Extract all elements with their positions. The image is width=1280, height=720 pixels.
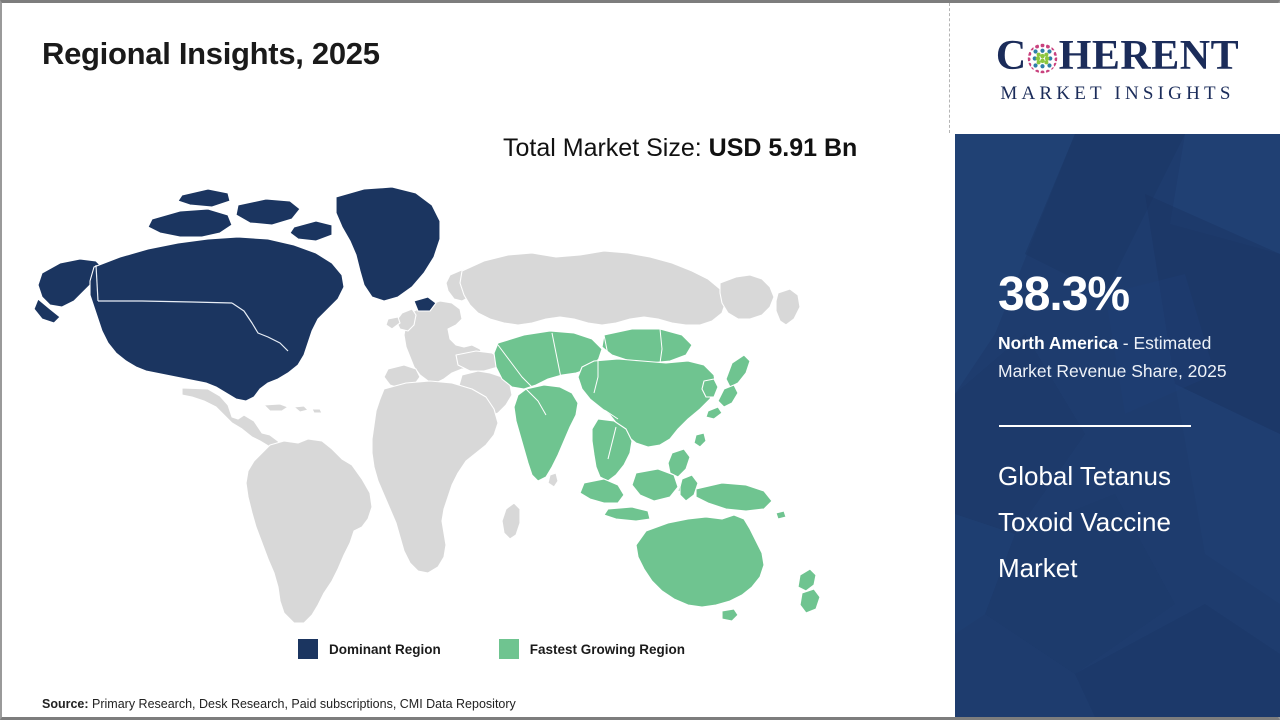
stat-panel: 38.3% North America - Estimated Market R… [955,134,1280,717]
source-note: Source: Primary Research, Desk Research,… [42,697,516,711]
world-map-svg [32,183,842,623]
market-title: Global Tetanus Toxoid Vaccine Market [998,454,1248,591]
logo-wordmark: C [996,33,1239,79]
legend-item-dominant: Dominant Region [298,639,441,659]
stat-description: North America - Estimated Market Revenue… [998,329,1263,386]
globe-dots-icon [1027,43,1058,74]
regional-insights-infographic: Regional Insights, 2025 Total Market Siz… [0,0,1280,720]
total-market-size: Total Market Size: USD 5.91 Bn [503,129,893,168]
logo-word-coherent: HERENT [1059,35,1239,77]
legend-item-fastest-growing: Fastest Growing Region [499,639,685,659]
legend-swatch-fastest-growing [499,639,519,659]
stat-value: 38.3% [998,271,1129,319]
market-size-value: USD 5.91 Bn [709,134,858,162]
map-region-north-america-dominant [34,187,440,401]
legend-swatch-dominant [298,639,318,659]
source-label: Source: [42,697,89,711]
market-size-label: Total Market Size: [503,134,709,162]
map-region-asia-pacific-fastest-growing [494,329,820,621]
legend-label-dominant: Dominant Region [329,642,441,657]
vertical-dashed-divider [949,3,950,133]
source-text: Primary Research, Desk Research, Paid su… [89,697,516,711]
stat-region-name: North America [998,333,1118,353]
logo-letter-c: C [996,35,1027,77]
world-map [32,183,842,623]
horizontal-rule [999,425,1191,427]
logo-subtitle: MARKET INSIGHTS [1000,83,1234,105]
map-legend: Dominant Region Fastest Growing Region [298,639,685,659]
left-content-panel: Regional Insights, 2025 Total Market Siz… [2,3,950,717]
legend-label-fastest-growing: Fastest Growing Region [530,642,685,657]
page-title: Regional Insights, 2025 [42,36,380,72]
brand-logo: C [955,3,1280,134]
